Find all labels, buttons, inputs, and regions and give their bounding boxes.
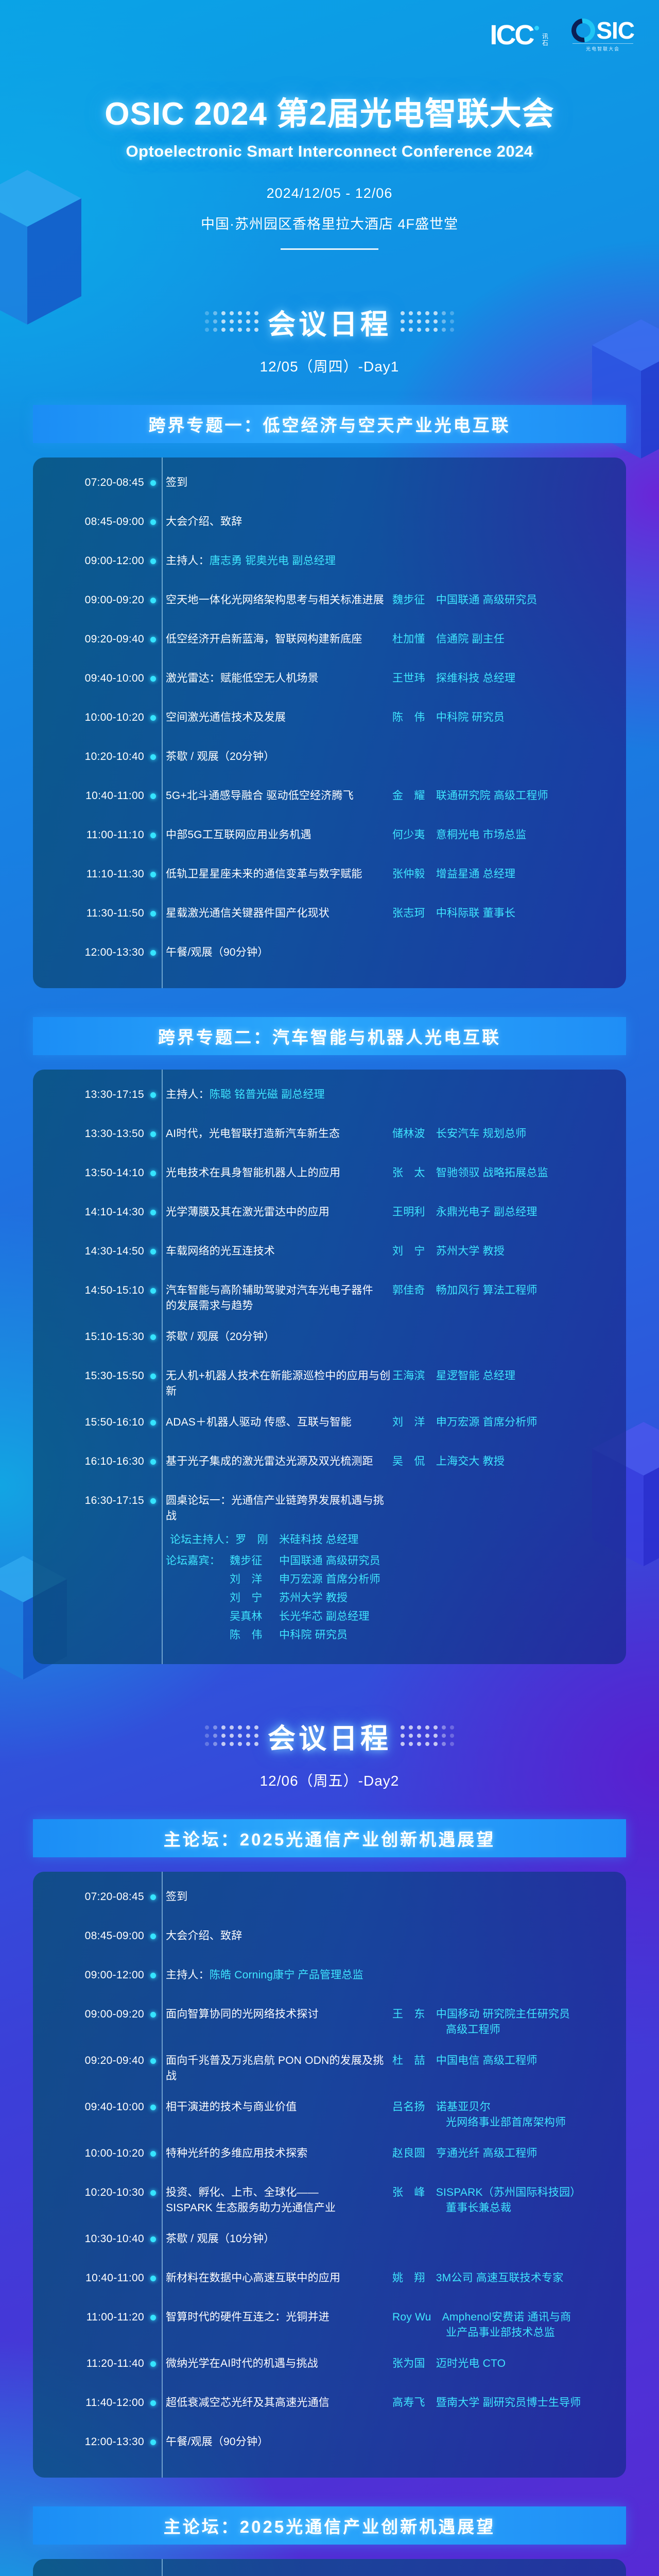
timeline-bullet-icon — [144, 2185, 162, 2196]
timeline-bullet-icon — [144, 2356, 162, 2367]
day-banner-title: 会议日程 — [268, 301, 391, 342]
agenda-time: 16:10-16:30 — [33, 1454, 144, 1469]
agenda-speaker-line: 张 峰 SISPARK（苏州国际科技园） — [392, 2187, 581, 2198]
agenda-speaker-line: 王 东 中国移动 研究院主任研究员 — [392, 2008, 570, 2020]
panel-guest-label — [166, 1589, 230, 1607]
agenda-speaker-line: 何少夷 意桐光电 市场总监 — [392, 829, 526, 841]
agenda-topic: 午餐/观展（90分钟） — [162, 945, 392, 960]
osic-logo: SIC 光电智联大会 — [571, 19, 634, 52]
agenda-topic: 低轨卫星星座未来的通信变革与数字赋能 — [162, 867, 392, 882]
agenda-time: 09:40-10:00 — [33, 671, 144, 686]
agenda-time: 11:00-11:10 — [33, 827, 144, 843]
agenda-row: 15:10-15:30茶歇 / 观展（20分钟） — [33, 1329, 626, 1353]
session-title-bar: 主论坛：2025光通信产业创新机遇展望 — [33, 1819, 626, 1857]
agenda-row: 13:30-13:50AI时代，光电智联打造新汽车新生态储林波 长安汽车 规划总… — [33, 1126, 626, 1150]
agenda-row: 14:30-14:50车载网络的光互连技术刘 宁 苏州大学 教授 — [33, 1244, 626, 1267]
agenda-speaker: 赵良圆 亨通光纤 高级工程师 — [392, 2146, 609, 2161]
agenda-speaker-line: 刘 洋 申万宏源 首席分析师 — [392, 1416, 537, 1428]
agenda-topic: 基于光子集成的激光雷达光源及双光梳测距 — [162, 1454, 392, 1469]
agenda-topic-line: 相干演进的技术与商业价值 — [166, 2101, 297, 2113]
timeline-bullet-icon — [144, 906, 162, 917]
agenda-topic: 汽车智能与高阶辅助驾驶对汽车光电子器件的发展需求与趋势 — [162, 1283, 392, 1314]
timeline-bullet-icon — [144, 749, 162, 760]
agenda-row: 14:10-14:30光学薄膜及其在激光雷达中的应用王明利 永鼎光电子 副总经理 — [33, 1205, 626, 1228]
agenda-speaker-line: 张为国 迈时光电 CTO — [392, 2358, 506, 2369]
panel-guest-name: 魏步征 — [230, 1552, 279, 1570]
agenda-row: 11:00-11:20智算时代的硬件互连之：光铜并进Roy Wu Ampheno… — [33, 2310, 626, 2341]
agenda-topic: 投资、孵化、上市、全球化——SISPARK 生态服务助力光通信产业 — [162, 2185, 392, 2216]
timeline-bullet-icon — [144, 1968, 162, 1978]
agenda-topic-line: 空天地一体化光网络架构思考与相关标准进展 — [166, 594, 384, 606]
agenda-time: 09:20-09:40 — [33, 632, 144, 647]
session-title-bar: 跨界专题一：低空经济与空天产业光电互联 — [33, 405, 626, 443]
agenda-row: 11:20-11:40微纳光学在AI时代的机遇与挑战张为国 迈时光电 CTO — [33, 2356, 626, 2380]
agenda-topic: 5G+北斗通感导融合 驱动低空经济腾飞 — [162, 788, 392, 804]
agenda-topic-line: 新材料在数据中心高速互联中的应用 — [166, 2272, 340, 2284]
panel-guest-label — [166, 1570, 230, 1589]
agenda-speaker: 魏步征 中国联通 高级研究员 — [392, 592, 609, 608]
panel-guest-name: 刘 宁 — [230, 1589, 279, 1607]
agenda-speaker-line: 吴 侃 上海交大 教授 — [392, 1455, 505, 1467]
agenda-topic: 签到 — [162, 475, 392, 490]
agenda-speaker-line: 金 耀 联通研究院 高级工程师 — [392, 790, 548, 802]
session-title: 跨界专题二：汽车智能与机器人光电互联 — [158, 1024, 501, 1048]
timeline-bullet-icon — [144, 1126, 162, 1137]
panel-host-label: 论坛主持人： — [170, 1534, 235, 1546]
panel-host-line: 论坛主持人：罗 刚 米硅科技 总经理 — [166, 1531, 392, 1549]
agenda-speaker: 张为国 迈时光电 CTO — [392, 2356, 609, 2371]
agenda-topic: 主持人：唐志勇 铌奥光电 副总经理 — [162, 553, 392, 569]
divider — [281, 248, 378, 250]
agenda-time: 11:30-11:50 — [33, 906, 144, 921]
timeline-bullet-icon — [144, 1454, 162, 1465]
event-venue: 中国·苏州园区香格里拉大酒店 4F盛世堂 — [0, 213, 659, 233]
agenda-row: 10:00-10:20空间激光通信技术及发展陈 伟 中科院 研究员 — [33, 710, 626, 734]
agenda-speaker: 王海滨 星逻智能 总经理 — [392, 1368, 609, 1384]
agenda-topic: 智算时代的硬件互连之：光铜并进 — [162, 2310, 392, 2325]
agenda-topic: 茶歇 / 观展（20分钟） — [162, 1329, 392, 1345]
timeline-bullet-icon — [144, 2395, 162, 2406]
agenda-speaker-line: 储林波 长安汽车 规划总师 — [392, 1128, 526, 1140]
agenda-topic: 超低衰减空芯光纤及其高速光通信 — [162, 2395, 392, 2411]
panel-guest-org: 苏州大学 教授 — [279, 1589, 392, 1607]
agenda-time: 07:20-08:45 — [33, 475, 144, 490]
agenda-topic-line: 午餐/观展（90分钟） — [166, 946, 268, 958]
agenda-time: 10:00-10:20 — [33, 710, 144, 725]
agenda-speaker: 金 耀 联通研究院 高级工程师 — [392, 788, 609, 804]
agenda-row: 11:30-11:50星载激光通信关键器件国产化现状张志珂 中科际联 董事长 — [33, 906, 626, 929]
icc-dot-icon — [534, 26, 539, 30]
agenda-time: 14:50-15:10 — [33, 1283, 144, 1298]
panel-guest-row: 论坛嘉宾：魏步征中国联通 高级研究员 — [166, 1552, 392, 1570]
agenda-topic: 大会介绍、致辞 — [162, 1928, 392, 1944]
agenda-speaker: 郭佳奇 畅加风行 算法工程师 — [392, 1283, 609, 1298]
agenda-topic: 空天地一体化光网络架构思考与相关标准进展 — [162, 592, 392, 608]
agenda-time: 09:00-09:20 — [33, 2007, 144, 2022]
agenda-time: 14:10-14:30 — [33, 1205, 144, 1220]
agenda-speaker: 姚 翔 3M公司 高速互联技术专家 — [392, 2270, 609, 2286]
agenda-row: 11:40-12:00超低衰减空芯光纤及其高速光通信高寿飞 暨南大学 副研究员博… — [33, 2395, 626, 2419]
timeline-bullet-icon — [144, 827, 162, 838]
icc-logo-text: ICC — [490, 23, 533, 48]
agenda-time: 15:10-15:30 — [33, 1329, 144, 1345]
agenda-topic-line: 中部5G工互联网应用业务机遇 — [166, 829, 311, 841]
agenda-time: 10:20-10:30 — [33, 2185, 144, 2200]
agenda-row: 11:10-11:30低轨卫星星座未来的通信变革与数字赋能张仲毅 增益星通 总经… — [33, 867, 626, 890]
agenda-time: 13:30-17:15 — [33, 1087, 144, 1103]
agenda-row: 09:00-12:00主持人：唐志勇 铌奥光电 副总经理 — [33, 553, 626, 577]
icc-logo-chinese: 讯石 — [541, 33, 549, 46]
agenda-topic-line: 茶歇 / 观展（10分钟） — [166, 2233, 274, 2245]
panel-guest-org: 中科院 研究员 — [279, 1626, 392, 1645]
agenda-row: 10:30-10:40茶歇 / 观展（10分钟） — [33, 2231, 626, 2255]
agenda-row: 12:00-13:30午餐/观展（90分钟） — [33, 2434, 626, 2458]
agenda-row: 10:20-10:30投资、孵化、上市、全球化——SISPARK 生态服务助力光… — [33, 2185, 626, 2216]
agenda-topic: 新材料在数据中心高速互联中的应用 — [162, 2270, 392, 2286]
agenda-topic: 签到 — [162, 1889, 392, 1905]
agenda-topic: AI时代，光电智联打造新汽车新生态 — [162, 1126, 392, 1142]
timeline-bullet-icon — [144, 1205, 162, 1215]
agenda-topic: 光学薄膜及其在激光雷达中的应用 — [162, 1205, 392, 1220]
agenda-speaker: 张仲毅 增益星通 总经理 — [392, 867, 609, 882]
agenda-topic-line: 5G+北斗通感导融合 驱动低空经济腾飞 — [166, 790, 354, 802]
agenda-row: 09:00-09:20面向智算协同的光网络技术探讨王 东 中国移动 研究院主任研… — [33, 2007, 626, 2038]
agenda-topic-line: 大会介绍、致辞 — [166, 1930, 242, 1942]
agenda-topic-line: 特种光纤的多维应用技术探索 — [166, 2147, 308, 2159]
agenda-time: 08:45-09:00 — [33, 514, 144, 530]
agenda-speaker: 王 东 中国移动 研究院主任研究员高级工程师 — [392, 2007, 609, 2038]
agenda-speaker: 王世玮 探维科技 总经理 — [392, 671, 609, 686]
osic-ring-icon — [567, 14, 600, 47]
agenda-speaker-line: 姚 翔 3M公司 高速互联技术专家 — [392, 2272, 563, 2284]
timeline-bullet-icon — [144, 1368, 162, 1379]
agenda-speaker: 何少夷 意桐光电 市场总监 — [392, 827, 609, 843]
timeline-bullet-icon — [144, 475, 162, 486]
agenda-speaker: 刘 宁 苏州大学 教授 — [392, 1244, 609, 1259]
panel-guest-label: 论坛嘉宾： — [166, 1552, 230, 1570]
agenda-row: 11:00-11:10中部5G工互联网应用业务机遇何少夷 意桐光电 市场总监 — [33, 827, 626, 851]
agenda-host-name: 唐志勇 铌奥光电 副总经理 — [210, 555, 336, 567]
agenda-topic-line: 光电技术在具身智能机器人上的应用 — [166, 1167, 340, 1179]
agenda-speaker-line: 赵良圆 亨通光纤 高级工程师 — [392, 2147, 537, 2159]
agenda-topic: 低空经济开启新蓝海，智联网构建新底座 — [162, 632, 392, 647]
agenda-topic-line: 汽车智能与高阶辅助驾驶对汽车光电子器件 — [166, 1284, 373, 1296]
agenda-row: 16:10-16:30基于光子集成的激光雷达光源及双光梳测距吴 侃 上海交大 教… — [33, 1454, 626, 1478]
agenda-row: 10:40-11:005G+北斗通感导融合 驱动低空经济腾飞金 耀 联通研究院 … — [33, 788, 626, 812]
panel-guest-name: 刘 洋 — [230, 1570, 279, 1589]
agenda-topic: 茶歇 / 观展（10分钟） — [162, 2231, 392, 2247]
agenda-topic-line: 午餐/观展（90分钟） — [166, 2436, 268, 2448]
agenda-row: 08:45-09:00大会介绍、致辞 — [33, 514, 626, 538]
decorative-dots-icon — [401, 1725, 454, 1747]
agenda-speaker: Roy Wu Amphenol安费诺 通讯与商业产品事业部技术总监 — [392, 2310, 609, 2341]
panel-guest-row: 吴真林长光华芯 副总经理 — [166, 1607, 392, 1626]
agenda-speaker: 张志珂 中科际联 董事长 — [392, 906, 609, 921]
agenda-topic-line: 微纳光学在AI时代的机遇与挑战 — [166, 2358, 318, 2369]
session-title: 主论坛：2025光通信产业创新机遇展望 — [164, 2513, 495, 2538]
agenda-speaker-line: 张志珂 中科际联 董事长 — [392, 907, 515, 919]
agenda-topic-line: 无人机+机器人技术在新能源巡检中的应用与创新 — [166, 1370, 390, 1397]
timeline-bullet-icon — [144, 945, 162, 956]
agenda-row: 09:20-09:40低空经济开启新蓝海，智联网构建新底座杜加懂 信通院 副主任 — [33, 632, 626, 655]
agenda-time: 09:00-12:00 — [33, 553, 144, 569]
agenda-topic-line: 茶歇 / 观展（20分钟） — [166, 751, 274, 762]
agenda-topic-line: 大会介绍、致辞 — [166, 516, 242, 528]
agenda-topic: 面向千兆普及万兆启航 PON ODN的发展及挑战 — [162, 2053, 392, 2084]
agenda-host-name: 陈皓 Corning康宁 产品管理总监 — [210, 1969, 363, 1981]
agenda-topic-continuation: 的发展需求与趋势 — [166, 1298, 392, 1314]
agenda-topic: 特种光纤的多维应用技术探索 — [162, 2146, 392, 2161]
timeline-bullet-icon — [144, 1889, 162, 1900]
agenda-topic-line: ADAS＋机器人驱动 传感、互联与智能 — [166, 1416, 352, 1428]
agenda-speaker: 陈 伟 中科院 研究员 — [392, 710, 609, 725]
agenda-speaker-continuation: 高级工程师 — [392, 2022, 609, 2038]
agenda-speaker: 杜 喆 中国电信 高级工程师 — [392, 2053, 609, 2069]
timeline-bullet-icon — [144, 632, 162, 642]
agenda-topic-continuation: SISPARK 生态服务助力光通信产业 — [166, 2200, 392, 2216]
timeline-bullet-icon — [144, 2310, 162, 2320]
timeline-bullet-icon — [144, 2007, 162, 2018]
agenda-row: 09:20-09:40面向千兆普及万兆启航 PON ODN的发展及挑战杜 喆 中… — [33, 2053, 626, 2084]
agenda-topic-line: 茶歇 / 观展（20分钟） — [166, 1331, 274, 1343]
timeline-bullet-icon — [144, 1283, 162, 1294]
agenda-row: 12:00-13:30午餐/观展（90分钟） — [33, 945, 626, 969]
agenda-topic: 微纳光学在AI时代的机遇与挑战 — [162, 2356, 392, 2371]
agenda-speaker: 杜加懂 信通院 副主任 — [392, 632, 609, 647]
page-subtitle: Optoelectronic Smart Interconnect Confer… — [0, 142, 659, 161]
agenda-topic-line: 激光雷达：赋能低空无人机场景 — [166, 672, 319, 684]
agenda-topic: 无人机+机器人技术在新能源巡检中的应用与创新 — [162, 1368, 392, 1399]
session-title-bar: 主论坛：2025光通信产业创新机遇展望 — [33, 2506, 626, 2545]
panel-guest-name: 陈 伟 — [230, 1626, 279, 1645]
agenda-row: 07:20-08:45签到 — [33, 1889, 626, 1913]
agenda-host-name: 陈聪 铭普光磁 副总经理 — [210, 1089, 325, 1100]
agenda-topic: 空间激光通信技术及发展 — [162, 710, 392, 725]
timeline-bullet-icon — [144, 2231, 162, 2242]
agenda-card: 13:30-17:15主持人：陈聪 铭普光磁 副总经理13:30-13:50AI… — [33, 1070, 626, 1664]
agenda-speaker: 张 峰 SISPARK（苏州国际科技园）董事长兼总裁 — [392, 2185, 609, 2216]
agenda-row: 09:40-10:00激光雷达：赋能低空无人机场景王世玮 探维科技 总经理 — [33, 671, 626, 694]
agenda-speaker-line: 吕名扬 诺基亚贝尔 — [392, 2101, 491, 2113]
agenda-speaker-line: 魏步征 中国联通 高级研究员 — [392, 594, 537, 606]
agenda-topic-line: 星载激光通信关键器件国产化现状 — [166, 907, 329, 919]
timeline-bullet-icon — [144, 514, 162, 525]
agenda-speaker-line: 张 太 智驰领驭 战略拓展总监 — [392, 1167, 548, 1179]
agenda-speaker-line: 刘 宁 苏州大学 教授 — [392, 1245, 505, 1257]
agenda-topic-line: 圆桌论坛一：光通信产业链跨界发展机遇与挑战 — [166, 1495, 384, 1522]
agenda-topic: 圆桌论坛一：光通信产业链跨界发展机遇与挑战论坛主持人：罗 刚 米硅科技 总经理论… — [162, 1493, 392, 1645]
agenda-speaker-continuation: 业产品事业部技术总监 — [392, 2325, 609, 2341]
timeline-bullet-icon — [144, 788, 162, 799]
panel-guest-row: 陈 伟中科院 研究员 — [166, 1626, 392, 1645]
agenda-speaker: 刘 洋 申万宏源 首席分析师 — [392, 1415, 609, 1430]
agenda-speaker-line: 高寿飞 暨南大学 副研究员博士生导师 — [392, 2397, 581, 2409]
session-title-bar: 跨界专题二：汽车智能与机器人光电互联 — [33, 1017, 626, 1055]
agenda-row: 09:00-09:20空天地一体化光网络架构思考与相关标准进展魏步征 中国联通 … — [33, 592, 626, 616]
agenda-topic: 激光雷达：赋能低空无人机场景 — [162, 671, 392, 686]
timeline-bullet-icon — [144, 1165, 162, 1176]
panel-guest-list: 论坛嘉宾：魏步征中国联通 高级研究员刘 洋申万宏源 首席分析师刘 宁苏州大学 教… — [166, 1552, 392, 1645]
agenda-speaker-line: Roy Wu Amphenol安费诺 通讯与商 — [392, 2311, 571, 2323]
agenda-row: 13:30-17:15主持人：陈聪 铭普光磁 副总经理 — [33, 1087, 626, 1111]
agenda-time: 10:40-11:00 — [33, 788, 144, 804]
timeline-bullet-icon — [144, 1329, 162, 1340]
agenda-speaker: 王明利 永鼎光电子 副总经理 — [392, 1205, 609, 1220]
agenda-time: 10:20-10:40 — [33, 749, 144, 765]
timeline-bullet-icon — [144, 2053, 162, 2064]
agenda-time: 10:40-11:00 — [33, 2270, 144, 2286]
agenda-speaker-line: 王海滨 星逻智能 总经理 — [392, 1370, 515, 1382]
agenda-speaker-line: 陈 伟 中科院 研究员 — [392, 711, 505, 723]
agenda-row: 08:45-09:00大会介绍、致辞 — [33, 1928, 626, 1952]
agenda-topic: 车载网络的光互连技术 — [162, 1244, 392, 1259]
timeline-bullet-icon — [144, 1415, 162, 1426]
agenda-speaker-continuation: 光网络事业部首席架构师 — [392, 2115, 609, 2130]
agenda-topic-line: 智算时代的硬件互连之：光铜并进 — [166, 2311, 329, 2323]
panel-guest-org: 申万宏源 首席分析师 — [279, 1570, 392, 1589]
agenda-speaker-line: 郭佳奇 畅加风行 算法工程师 — [392, 1284, 537, 1296]
day-banner-title: 会议日程 — [268, 1716, 391, 1756]
timeline-bullet-icon — [144, 1087, 162, 1098]
agenda-time: 12:00-13:30 — [33, 945, 144, 960]
panel-guest-label — [166, 1626, 230, 1645]
timeline-bullet-icon — [144, 2146, 162, 2157]
timeline-bullet-icon — [144, 710, 162, 721]
agenda-topic-line: 投资、孵化、上市、全球化—— — [166, 2187, 319, 2198]
header-logos: ICC 讯石 SIC 光电智联大会 — [490, 19, 634, 52]
timeline-spine — [162, 2559, 163, 2576]
agenda-card: 07:20-08:45签到08:45-09:00大会介绍、致辞09:00-12:… — [33, 457, 626, 988]
agenda-topic-line: 低空经济开启新蓝海，智联网构建新底座 — [166, 633, 362, 645]
agenda-topic-line: 空间激光通信技术及发展 — [166, 711, 286, 723]
agenda-speaker: 张 太 智驰领驭 战略拓展总监 — [392, 1165, 609, 1181]
agenda-topic: 茶歇 / 观展（20分钟） — [162, 749, 392, 765]
agenda-time: 11:00-11:20 — [33, 2310, 144, 2325]
agenda-time: 15:30-15:50 — [33, 1368, 144, 1384]
session-title: 主论坛：2025光通信产业创新机遇展望 — [164, 1826, 495, 1851]
timeline-bullet-icon — [144, 2270, 162, 2281]
agenda-time: 14:30-14:50 — [33, 1244, 144, 1259]
session-title: 跨界专题一：低空经济与空天产业光电互联 — [149, 412, 511, 436]
agenda-time: 13:30-13:50 — [33, 1126, 144, 1142]
panel-guest-row: 刘 宁苏州大学 教授 — [166, 1589, 392, 1607]
day-banner-subtitle: 12/06（周五）-Day2 — [0, 1770, 659, 1790]
agenda-speaker-line: 张仲毅 增益星通 总经理 — [392, 868, 515, 880]
panel-details: 论坛主持人：罗 刚 米硅科技 总经理论坛嘉宾：魏步征中国联通 高级研究员刘 洋申… — [166, 1531, 392, 1645]
panel-guest-org: 中国联通 高级研究员 — [279, 1552, 392, 1570]
agenda-days: 会议日程12/05（周四）-Day1跨界专题一：低空经济与空天产业光电互联07:… — [0, 301, 659, 2576]
agenda-topic-line: 低轨卫星星座未来的通信变革与数字赋能 — [166, 868, 362, 880]
agenda-speaker-continuation: 董事长兼总裁 — [392, 2200, 609, 2216]
agenda-time: 15:50-16:10 — [33, 1415, 144, 1430]
agenda-row: 09:40-10:00相干演进的技术与商业价值吕名扬 诺基亚贝尔光网络事业部首席… — [33, 2099, 626, 2130]
agenda-time: 11:20-11:40 — [33, 2356, 144, 2371]
panel-guest-name: 吴真林 — [230, 1607, 279, 1626]
agenda-topic: 光电技术在具身智能机器人上的应用 — [162, 1165, 392, 1181]
timeline-bullet-icon — [144, 592, 162, 603]
agenda-row: 10:40-11:00新材料在数据中心高速互联中的应用姚 翔 3M公司 高速互联… — [33, 2270, 626, 2294]
agenda-row: 16:30-17:15圆桌论坛一：光通信产业链跨界发展机遇与挑战论坛主持人：罗 … — [33, 1493, 626, 1645]
agenda-speaker-line: 杜加懂 信通院 副主任 — [392, 633, 505, 645]
icc-logo: ICC 讯石 — [490, 23, 558, 48]
agenda-topic-line: 光学薄膜及其在激光雷达中的应用 — [166, 1206, 329, 1218]
decorative-dots-icon — [205, 1725, 258, 1747]
panel-guest-row: 刘 洋申万宏源 首席分析师 — [166, 1570, 392, 1589]
page-title: OSIC 2024 第2届光电智联大会 — [0, 88, 659, 134]
agenda-speaker: 吕名扬 诺基亚贝尔光网络事业部首席架构师 — [392, 2099, 609, 2130]
agenda-card: 13:30-16:45主持人：罗帅 华兴激光 总经理13:30-13:50开启人… — [33, 2559, 626, 2576]
timeline-bullet-icon — [144, 2099, 162, 2110]
agenda-row: 13:50-14:10光电技术在具身智能机器人上的应用张 太 智驰领驭 战略拓展… — [33, 1165, 626, 1189]
panel-guest-label — [166, 1607, 230, 1626]
agenda-time: 08:45-09:00 — [33, 1928, 144, 1944]
day-banner: 会议日程12/05（周四）-Day1 — [0, 301, 659, 376]
agenda-topic-line: 基于光子集成的激光雷达光源及双光梳测距 — [166, 1455, 373, 1467]
day-banner-subtitle: 12/05（周四）-Day1 — [0, 355, 659, 376]
agenda-topic: 主持人：陈聪 铭普光磁 副总经理 — [162, 1087, 392, 1103]
agenda-time: 09:00-09:20 — [33, 592, 144, 608]
agenda-speaker: 高寿飞 暨南大学 副研究员博士生导师 — [392, 2395, 609, 2411]
agenda-speaker-line: 杜 喆 中国电信 高级工程师 — [392, 2055, 537, 2066]
decorative-dots-icon — [401, 311, 454, 332]
agenda-time: 09:40-10:00 — [33, 2099, 144, 2115]
agenda-speaker: 吴 侃 上海交大 教授 — [392, 1454, 609, 1469]
agenda-time: 07:20-08:45 — [33, 1889, 144, 1905]
agenda-row: 14:50-15:10汽车智能与高阶辅助驾驶对汽车光电子器件的发展需求与趋势郭佳… — [33, 1283, 626, 1314]
agenda-time: 11:10-11:30 — [33, 867, 144, 882]
timeline-spine — [162, 1872, 163, 2478]
agenda-time: 09:00-12:00 — [33, 1968, 144, 1983]
decorative-dots-icon — [205, 311, 258, 332]
agenda-topic-line: 车载网络的光互连技术 — [166, 1245, 275, 1257]
timeline-bullet-icon — [144, 1244, 162, 1255]
agenda-topic: 中部5G工互联网应用业务机遇 — [162, 827, 392, 843]
agenda-row: 10:00-10:20特种光纤的多维应用技术探索赵良圆 亨通光纤 高级工程师 — [33, 2146, 626, 2170]
agenda-time: 13:50-14:10 — [33, 1165, 144, 1181]
agenda-time: 12:00-13:30 — [33, 2434, 144, 2450]
agenda-topic-line: 面向智算协同的光网络技术探讨 — [166, 2008, 319, 2020]
event-date: 2024/12/05 - 12/06 — [0, 185, 659, 201]
panel-guest-org: 长光华芯 副总经理 — [279, 1607, 392, 1626]
agenda-row: 15:50-16:10ADAS＋机器人驱动 传感、互联与智能刘 洋 申万宏源 首… — [33, 1415, 626, 1438]
agenda-row: 09:00-12:00主持人：陈皓 Corning康宁 产品管理总监 — [33, 1968, 626, 1991]
agenda-speaker: 储林波 长安汽车 规划总师 — [392, 1126, 609, 1142]
agenda-topic: ADAS＋机器人驱动 传感、互联与智能 — [162, 1415, 392, 1430]
timeline-bullet-icon — [144, 553, 162, 564]
agenda-topic-line: AI时代，光电智联打造新汽车新生态 — [166, 1128, 340, 1140]
agenda-time: 11:40-12:00 — [33, 2395, 144, 2411]
timeline-bullet-icon — [144, 1493, 162, 1504]
agenda-time: 10:00-10:20 — [33, 2146, 144, 2161]
day-banner: 会议日程12/06（周五）-Day2 — [0, 1716, 659, 1790]
agenda-topic: 大会介绍、致辞 — [162, 514, 392, 530]
timeline-bullet-icon — [144, 671, 162, 682]
agenda-topic: 面向智算协同的光网络技术探讨 — [162, 2007, 392, 2022]
agenda-topic-line: 面向千兆普及万兆启航 PON ODN的发展及挑战 — [166, 2055, 384, 2082]
panel-host-name: 罗 刚 米硅科技 总经理 — [235, 1534, 358, 1546]
agenda-row: 07:20-08:45签到 — [33, 475, 626, 499]
timeline-bullet-icon — [144, 1928, 162, 1939]
osic-logo-text: SIC — [596, 19, 634, 42]
timeline-bullet-icon — [144, 2434, 162, 2445]
agenda-topic: 星载激光通信关键器件国产化现状 — [162, 906, 392, 921]
agenda-topic-line: 签到 — [166, 1891, 187, 1903]
agenda-topic-line: 超低衰减空芯光纤及其高速光通信 — [166, 2397, 329, 2409]
agenda-topic: 主持人：陈皓 Corning康宁 产品管理总监 — [162, 1968, 392, 1983]
timeline-bullet-icon — [144, 867, 162, 877]
agenda-card: 07:20-08:45签到08:45-09:00大会介绍、致辞09:00-12:… — [33, 1872, 626, 2478]
agenda-speaker-line: 王世玮 探维科技 总经理 — [392, 672, 515, 684]
